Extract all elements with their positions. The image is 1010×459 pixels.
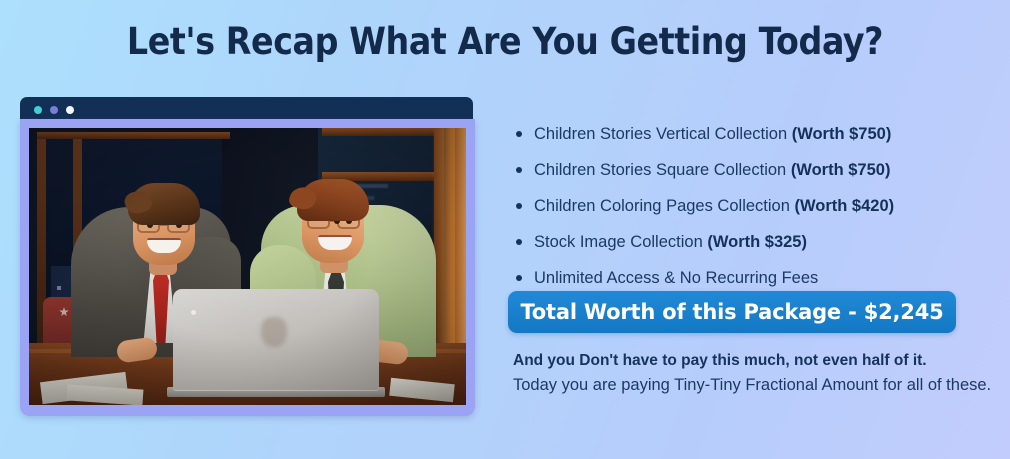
laptop-logo-icon [261, 317, 287, 347]
window-mullion [322, 128, 444, 136]
total-worth-banner[interactable]: Total Worth of this Package - $2,245 [508, 291, 956, 333]
benefit-text: Children Coloring Pages Collection [534, 197, 794, 215]
list-item: Unlimited Access & No Recurring Fees [512, 268, 982, 288]
benefits-list: Children Stories Vertical Collection (Wo… [512, 124, 982, 304]
list-item: Stock Image Collection (Worth $325) [512, 232, 982, 252]
browser-frame [20, 119, 475, 416]
benefit-text: Stock Image Collection [534, 233, 707, 251]
product-illustration [29, 128, 466, 405]
benefit-worth: (Worth $420) [794, 197, 894, 215]
window-dot-teal-icon [34, 106, 42, 114]
window-dot-purple-icon [50, 106, 58, 114]
page-title: Let's Recap What Are You Getting Today? [0, 20, 1010, 63]
total-worth-label: Total Worth of this Package - $2,245 [520, 300, 943, 324]
list-item: Children Coloring Pages Collection (Wort… [512, 196, 982, 216]
window-mullion [37, 132, 230, 139]
benefit-worth: (Worth $750) [791, 161, 891, 179]
laptop-highlight-dot [191, 310, 196, 315]
benefit-text: Children Stories Vertical Collection [534, 125, 792, 143]
window-dot-white-icon [66, 106, 74, 114]
benefit-worth: (Worth $750) [792, 125, 892, 143]
list-item: Children Stories Square Collection (Wort… [512, 160, 982, 180]
benefit-text: Children Stories Square Collection [534, 161, 791, 179]
footnote-headline: And you Don't have to pay this much, not… [513, 352, 927, 370]
browser-window-mockup [20, 97, 475, 416]
footnote-subtext: Today you are paying Tiny-Tiny Fractiona… [513, 376, 991, 395]
city-light [57, 286, 61, 290]
list-item: Children Stories Vertical Collection (Wo… [512, 124, 982, 144]
benefit-worth: (Worth $325) [707, 233, 807, 251]
benefit-text: Unlimited Access & No Recurring Fees [534, 269, 818, 287]
